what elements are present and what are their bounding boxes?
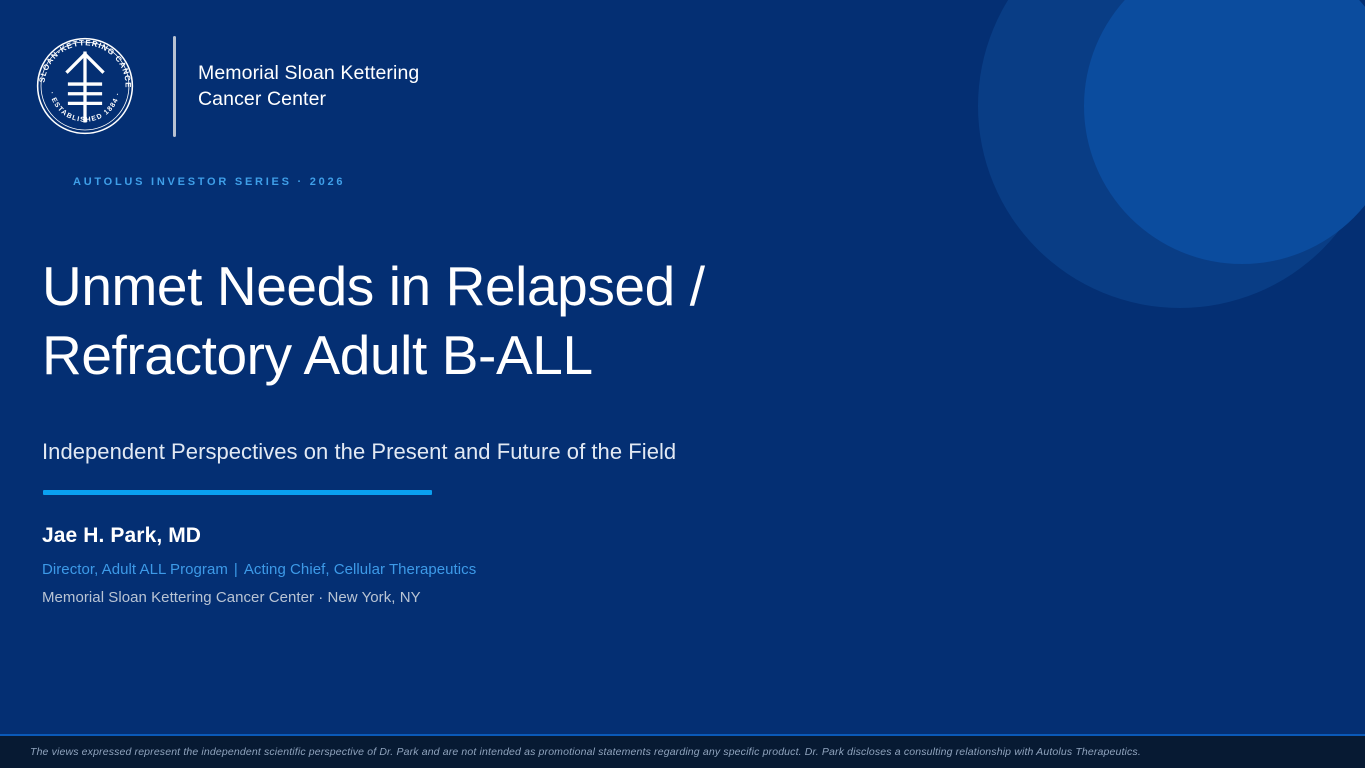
speaker-block: Jae H. Park, MD Director, Adult ALL Prog… [42,522,762,608]
institution-wordmark: Memorial Sloan Kettering Cancer Center [198,60,419,112]
msk-seal-icon: MEMORIAL SLOAN-KETTERING CANCER CENTER ·… [27,28,143,144]
slide-title: Unmet Needs in Relapsed / Refractory Adu… [42,252,842,390]
speaker-role-secondary: Acting Chief, Cellular Therapeutics [244,561,476,578]
disclaimer-text: The views expressed represent the indepe… [30,745,1141,759]
disclaimer-footer: The views expressed represent the indepe… [0,734,1365,768]
accent-divider [43,490,432,495]
slide-subtitle: Independent Perspectives on the Present … [42,437,676,467]
decorative-outer-circle [978,0,1365,308]
speaker-role-separator: | [228,561,244,578]
speaker-name: Jae H. Park, MD [42,522,762,550]
speaker-affiliation: Memorial Sloan Kettering Cancer Center ·… [42,587,762,608]
title-slide: MEMORIAL SLOAN-KETTERING CANCER CENTER ·… [0,0,1365,768]
speaker-role: Director, Adult ALL Program|Acting Chief… [42,559,762,580]
institution-logo-lockup: MEMORIAL SLOAN-KETTERING CANCER CENTER ·… [27,27,419,145]
series-eyebrow: AUTOLUS INVESTOR SERIES · 2026 [73,176,345,188]
logo-divider [173,36,176,137]
speaker-role-primary: Director, Adult ALL Program [42,561,228,578]
decorative-inner-circle [1084,0,1365,264]
